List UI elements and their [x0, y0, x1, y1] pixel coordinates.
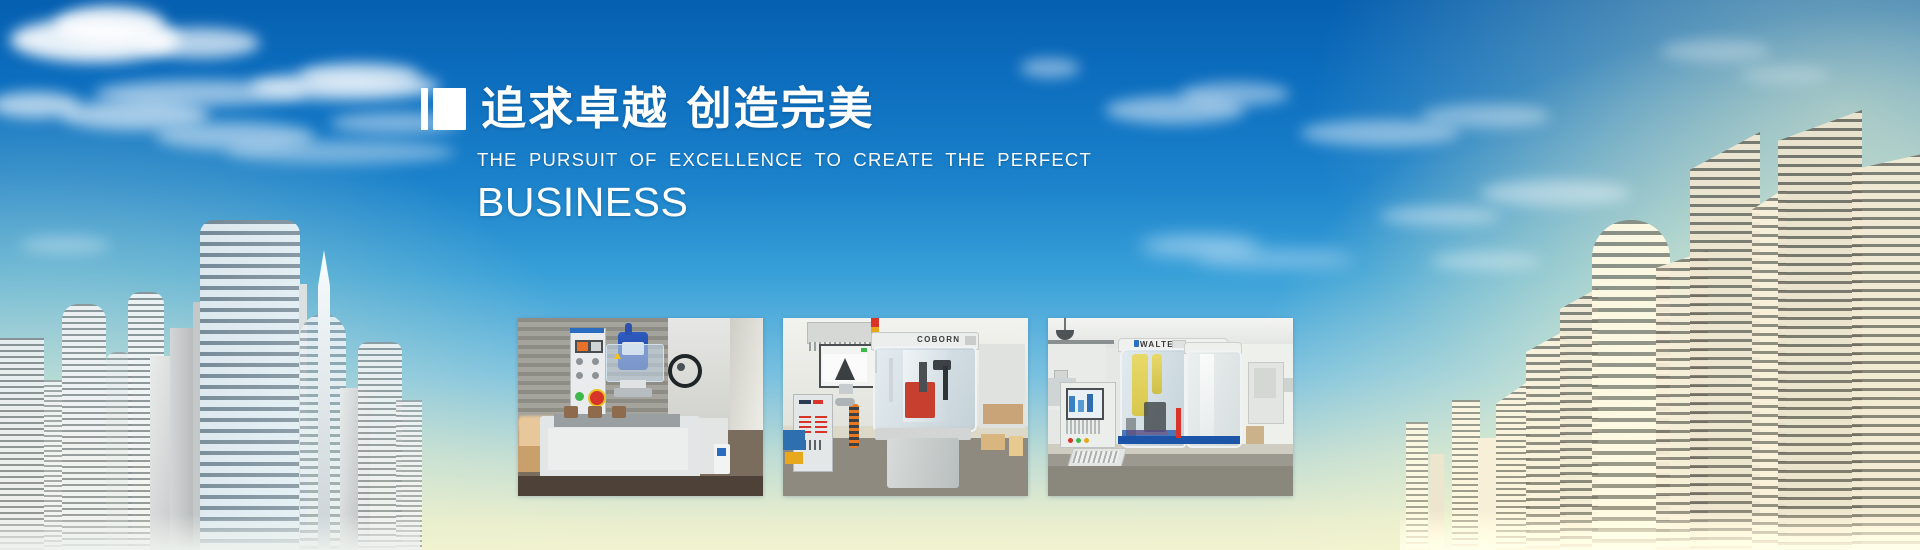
photo-walter-grinder[interactable]: WALTER: [1048, 318, 1293, 496]
machine-photo-gallery: COBORN: [518, 318, 1293, 496]
subtitle-business: BUSINESS: [477, 179, 1121, 225]
hero-banner: 追求卓越 创造完美 THE PURSUIT OF EXCELLENCE TO C…: [0, 0, 1920, 550]
banner-copy: 追求卓越 创造完美 THE PURSUIT OF EXCELLENCE TO C…: [421, 86, 1121, 225]
subtitle-english: THE PURSUIT OF EXCELLENCE TO CREATE THE …: [477, 149, 1121, 171]
photo-coborn-grinder[interactable]: COBORN: [783, 318, 1028, 496]
logo-bar-shape: [421, 88, 428, 130]
logo-square-shape: [433, 88, 466, 130]
photo-brand-label-coborn: COBORN: [917, 335, 960, 344]
bar-square-logo-mark-icon: [421, 88, 466, 130]
left-cityscape: [0, 130, 420, 550]
headline-row: 追求卓越 创造完美: [421, 86, 1121, 132]
page-title: 追求卓越 创造完美: [481, 86, 875, 132]
photo-edm-machine[interactable]: [518, 318, 763, 496]
right-cityscape: [1400, 80, 1920, 550]
